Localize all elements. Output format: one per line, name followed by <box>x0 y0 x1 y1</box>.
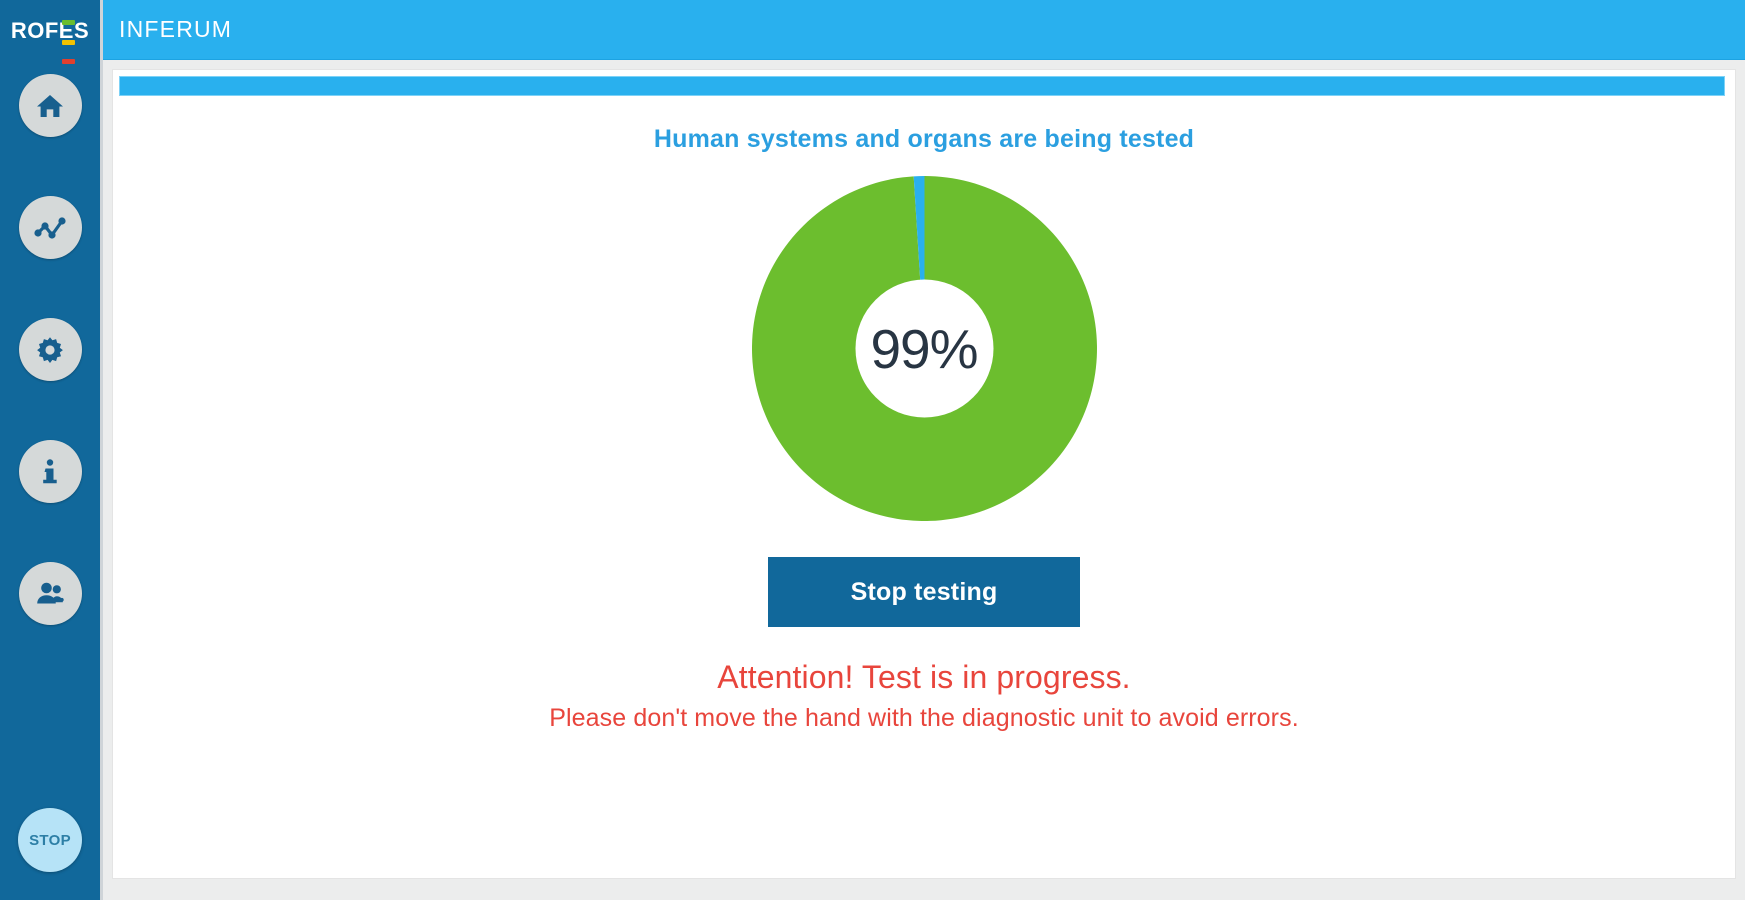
test-progress-bar <box>119 76 1725 96</box>
users-icon <box>33 577 67 611</box>
sidebar-item-results[interactable] <box>19 196 82 259</box>
sidebar-item-info[interactable] <box>19 440 82 503</box>
content-card: Human systems and organs are being teste… <box>113 70 1735 878</box>
brand-logo-text-left: ROF <box>11 18 59 43</box>
logo-mark-red <box>62 59 75 64</box>
sidebar-item-home[interactable] <box>19 74 82 137</box>
top-header-bar: INFERUM <box>103 0 1745 60</box>
warning-message: Attention! Test is in progress. Please d… <box>549 659 1299 733</box>
sidebar-nav <box>19 74 82 625</box>
warning-title: Attention! Test is in progress. <box>549 659 1299 696</box>
workspace: Human systems and organs are being teste… <box>103 60 1745 900</box>
stop-testing-button[interactable]: Stop testing <box>768 557 1080 627</box>
chart-line-icon <box>32 210 68 246</box>
application-window: ROFES <box>0 0 1745 900</box>
sidebar-stop-button[interactable]: STOP <box>18 808 82 872</box>
app-title: INFERUM <box>119 16 232 43</box>
brand-logo[interactable]: ROFES <box>0 0 100 62</box>
progress-donut-chart: 99% <box>752 176 1097 521</box>
sidebar-item-settings[interactable] <box>19 318 82 381</box>
page-title: Human systems and organs are being teste… <box>654 125 1194 154</box>
brand-logo-text-e: E <box>59 18 74 44</box>
gear-icon <box>33 333 67 367</box>
donut-svg <box>752 176 1097 521</box>
brand-logo-text: ROFES <box>11 18 89 44</box>
home-icon <box>33 89 67 123</box>
sidebar-stop-label: STOP <box>29 832 71 849</box>
main-area: INFERUM Human systems and organs are bei… <box>103 0 1745 900</box>
donut-hole <box>855 280 993 418</box>
sidebar: ROFES <box>0 0 103 900</box>
warning-body: Please don't move the hand with the diag… <box>549 704 1299 733</box>
sidebar-item-users[interactable] <box>19 562 82 625</box>
brand-logo-text-right: S <box>74 18 89 43</box>
info-icon <box>34 456 66 488</box>
